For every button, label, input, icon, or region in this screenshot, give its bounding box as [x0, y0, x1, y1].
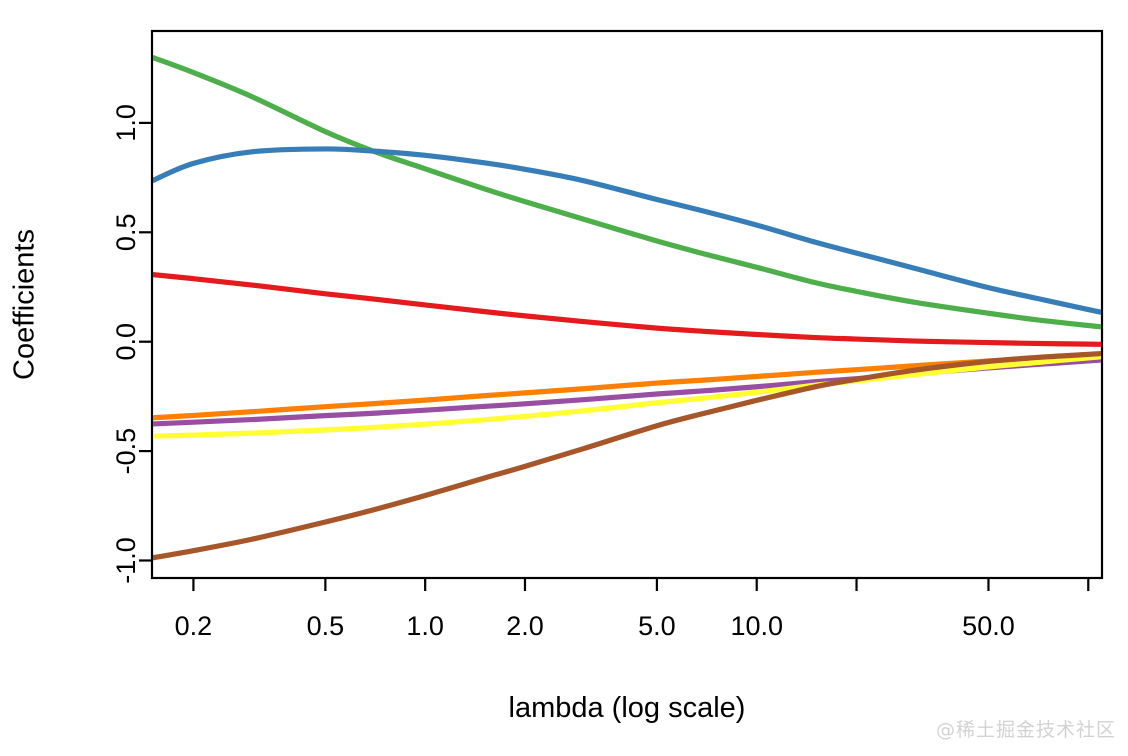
y-tick-label: 0.5 — [111, 214, 141, 252]
plot-frame — [152, 31, 1102, 578]
x-tick-label: 2.0 — [506, 611, 544, 641]
chart-canvas: 0.20.51.02.05.010.050.0-1.0-0.50.00.51.0… — [0, 0, 1128, 756]
y-tick-label: 1.0 — [111, 104, 141, 142]
y-tick-label: -1.0 — [111, 537, 141, 584]
curves-group — [152, 57, 1102, 558]
x-tick-label: 0.2 — [175, 611, 213, 641]
x-tick-label: 10.0 — [730, 611, 783, 641]
y-tick-label: 0.0 — [111, 323, 141, 361]
y-tick-label: -0.5 — [111, 428, 141, 475]
x-axis-title: lambda (log scale) — [509, 692, 746, 724]
x-tick-label: 1.0 — [406, 611, 444, 641]
coefficient-path-plot: 0.20.51.02.05.010.050.0-1.0-0.50.00.51.0… — [0, 0, 1128, 756]
x-tick-label: 50.0 — [962, 611, 1015, 641]
y-axis-title: Coefficients — [9, 229, 41, 380]
x-tick-label: 0.5 — [307, 611, 345, 641]
watermark-text: @稀土掘金技术社区 — [936, 715, 1116, 742]
x-tick-label: 5.0 — [638, 611, 676, 641]
